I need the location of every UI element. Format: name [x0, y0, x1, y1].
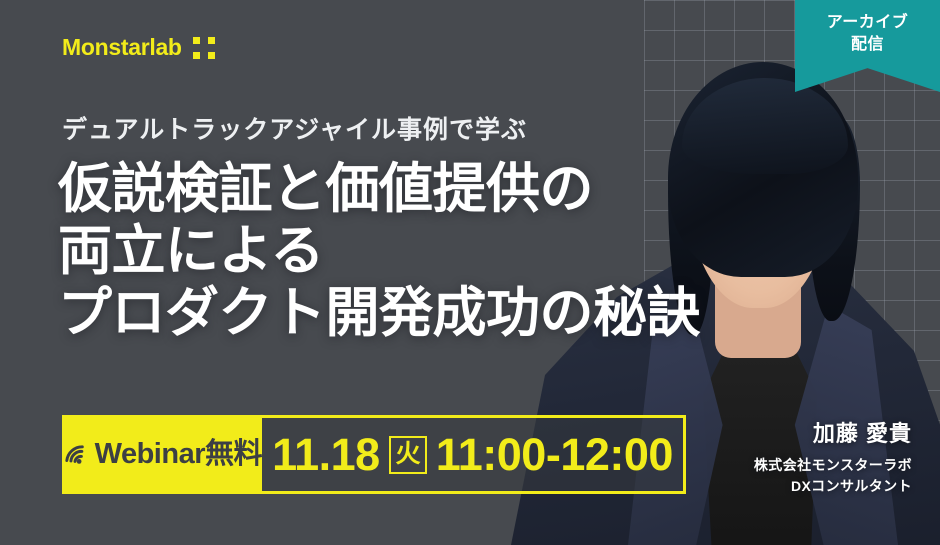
logo-wordmark: Monstarlab — [62, 36, 182, 59]
archive-badge-line1: アーカイブ — [827, 12, 909, 34]
wifi-signal-icon — [65, 444, 90, 467]
speaker-name: 加藤 愛貴 — [754, 420, 912, 448]
webinar-free-chip: Webinar無料 — [65, 418, 262, 491]
webinar-free-label: Webinar無料 — [95, 440, 262, 469]
event-datetime: 11.18 火 11:00-12:00 — [262, 418, 683, 491]
headline-subtitle: デュアルトラックアジャイル事例で学ぶ — [62, 110, 527, 146]
speaker-info: 加藤 愛貴 株式会社モンスターラボ DXコンサルタント — [754, 420, 912, 497]
four-dot-square-icon — [193, 37, 215, 59]
logo-dot — [193, 37, 200, 44]
speaker-company: 株式会社モンスターラボ — [754, 455, 912, 476]
event-day-of-week: 火 — [389, 436, 427, 474]
headline-title-line-1: 仮説検証と価値提供の — [58, 158, 700, 220]
event-info-bar: Webinar無料 11.18 火 11:00-12:00 — [62, 415, 686, 494]
webinar-banner: アーカイブ 配信 Monstarlab デュアルトラックアジャイル事例で学ぶ 仮… — [0, 0, 940, 545]
headline-title-line-3: プロダクト開発成功の秘訣 — [58, 282, 700, 344]
logo-dot — [208, 37, 215, 44]
headline-title: 仮説検証と価値提供の 両立による プロダクト開発成功の秘訣 — [58, 158, 700, 344]
logo-dot — [193, 52, 200, 59]
event-time: 11:00-12:00 — [436, 432, 673, 477]
headline-title-line-2: 両立による — [58, 220, 700, 282]
event-date: 11.18 — [272, 432, 380, 477]
monstarlab-logo[interactable]: Monstarlab — [62, 36, 215, 59]
speaker-role: DXコンサルタント — [754, 476, 912, 497]
logo-dot — [208, 52, 215, 59]
archive-badge-line2: 配信 — [851, 34, 884, 56]
